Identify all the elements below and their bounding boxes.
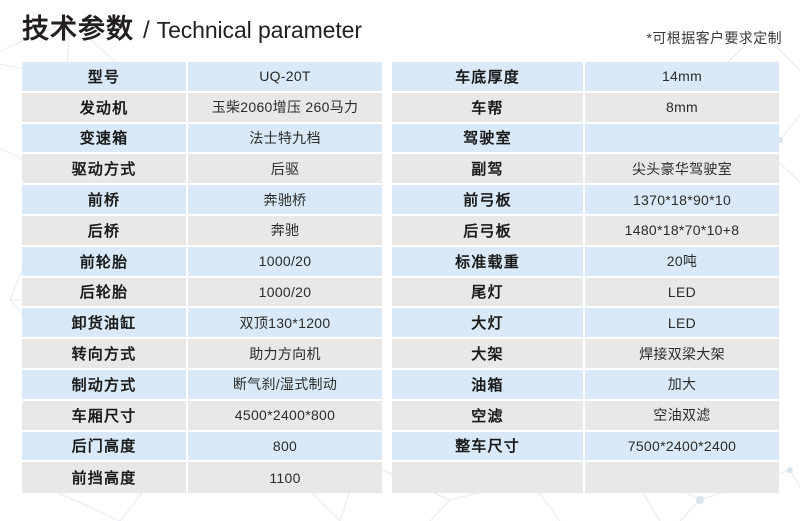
spec-label-cell: 大灯 (392, 308, 585, 339)
spec-label-cell: 前挡高度 (22, 462, 188, 493)
spec-label-cell: 发动机 (22, 93, 188, 124)
spec-label-cell: 车底厚度 (392, 62, 585, 93)
spec-row: 空滤空油双滤 (392, 401, 779, 432)
spec-value-cell: 加大 (585, 370, 779, 401)
page-title-separator: / (143, 19, 150, 43)
spec-value-cell: 1370*18*90*10 (585, 185, 779, 216)
spec-value-cell: 14mm (585, 62, 779, 93)
spec-value-cell: 7500*2400*2400 (585, 432, 779, 463)
spec-row: 驱动方式后驱 (22, 154, 382, 185)
spec-row: 尾灯LED (392, 278, 779, 309)
spec-row: 车厢尺寸4500*2400*800 (22, 401, 382, 432)
spec-value-cell (585, 462, 779, 493)
spec-label-cell: 后门高度 (22, 432, 188, 463)
spec-value-cell: 双顶130*1200 (188, 308, 382, 339)
spec-label-cell: 制动方式 (22, 370, 188, 401)
spec-label-cell (392, 462, 585, 493)
customization-note: *可根据客户要求定制 (647, 28, 782, 48)
spec-row: 油箱加大 (392, 370, 779, 401)
spec-label-cell: 后轮胎 (22, 278, 188, 309)
spec-label-cell: 后桥 (22, 216, 188, 247)
spec-row: 制动方式断气刹/湿式制动 (22, 370, 382, 401)
spec-label-cell: 后弓板 (392, 216, 585, 247)
spec-value-cell: 断气刹/湿式制动 (188, 370, 382, 401)
spec-row: 卸货油缸双顶130*1200 (22, 308, 382, 339)
spec-value-cell: 1100 (188, 462, 382, 493)
spec-value-cell: LED (585, 278, 779, 309)
spec-label-cell: 油箱 (392, 370, 585, 401)
spec-value-cell: 法士特九档 (188, 124, 382, 155)
spec-label-cell: 车帮 (392, 93, 585, 124)
page-header: 技术参数 / Technical parameter *可根据客户要求定制 (0, 0, 800, 58)
spec-label-cell: 转向方式 (22, 339, 188, 370)
spec-row: 转向方式助力方向机 (22, 339, 382, 370)
spec-value-cell: UQ-20T (188, 62, 382, 93)
spec-label-cell: 标准载重 (392, 247, 585, 278)
spec-value-cell: 800 (188, 432, 382, 463)
spec-row: 后轮胎1000/20 (22, 278, 382, 309)
spec-label-cell: 前轮胎 (22, 247, 188, 278)
spec-row: 标准载重20吨 (392, 247, 779, 278)
spec-value-cell: 空油双滤 (585, 401, 779, 432)
spec-label-cell: 变速箱 (22, 124, 188, 155)
spec-value-cell: LED (585, 308, 779, 339)
spec-row: 型号UQ-20T (22, 62, 382, 93)
spec-table-right-body: 车底厚度14mm车帮8mm驾驶室副驾尖头豪华驾驶室前弓板1370*18*90*1… (392, 62, 779, 493)
spec-row: 后桥奔驰 (22, 216, 382, 247)
spec-value-cell: 焊接双梁大架 (585, 339, 779, 370)
spec-label-cell: 空滤 (392, 401, 585, 432)
spec-row: 驾驶室 (392, 124, 779, 155)
page-title-cn: 技术参数 (22, 16, 134, 43)
spec-label-cell: 副驾 (392, 154, 585, 185)
spec-row: 后门高度800 (22, 432, 382, 463)
spec-value-cell: 20吨 (585, 247, 779, 278)
page-title: 技术参数 / Technical parameter (22, 16, 362, 43)
spec-row: 前挡高度1100 (22, 462, 382, 493)
spec-label-cell: 卸货油缸 (22, 308, 188, 339)
spec-value-cell: 助力方向机 (188, 339, 382, 370)
spec-table-left: 型号UQ-20T发动机玉柴2060增压 260马力变速箱法士特九档驱动方式后驱前… (22, 62, 382, 493)
spec-label-cell: 驾驶室 (392, 124, 585, 155)
spec-value-cell: 奔驰桥 (188, 185, 382, 216)
spec-label-cell: 车厢尺寸 (22, 401, 188, 432)
spec-row: 副驾尖头豪华驾驶室 (392, 154, 779, 185)
spec-value-cell: 奔驰 (188, 216, 382, 247)
spec-value-cell: 4500*2400*800 (188, 401, 382, 432)
spec-row: 前轮胎1000/20 (22, 247, 382, 278)
spec-row: 后弓板1480*18*70*10+8 (392, 216, 779, 247)
spec-table-right: 车底厚度14mm车帮8mm驾驶室副驾尖头豪华驾驶室前弓板1370*18*90*1… (392, 62, 779, 493)
spec-row: 大灯LED (392, 308, 779, 339)
spec-value-cell: 1000/20 (188, 278, 382, 309)
spec-value-cell: 后驱 (188, 154, 382, 185)
spec-value-cell: 1000/20 (188, 247, 382, 278)
spec-value-cell: 玉柴2060增压 260马力 (188, 93, 382, 124)
spec-row: 车帮8mm (392, 93, 779, 124)
spec-row: 变速箱法士特九档 (22, 124, 382, 155)
spec-label-cell: 型号 (22, 62, 188, 93)
spec-value-cell: 尖头豪华驾驶室 (585, 154, 779, 185)
spec-label-cell: 尾灯 (392, 278, 585, 309)
spec-row: 整车尺寸7500*2400*2400 (392, 432, 779, 463)
page-title-en: Technical parameter (157, 19, 362, 42)
spec-label-cell: 前桥 (22, 185, 188, 216)
spec-row: 发动机玉柴2060增压 260马力 (22, 93, 382, 124)
spec-label-cell: 整车尺寸 (392, 432, 585, 463)
spec-label-cell: 大架 (392, 339, 585, 370)
spec-row: 车底厚度14mm (392, 62, 779, 93)
spec-row (392, 462, 779, 493)
spec-sheet-page: 技术参数 / Technical parameter *可根据客户要求定制 型号… (0, 0, 800, 521)
spec-row: 前桥奔驰桥 (22, 185, 382, 216)
spec-label-cell: 前弓板 (392, 185, 585, 216)
spec-label-cell: 驱动方式 (22, 154, 188, 185)
spec-value-cell (585, 124, 779, 155)
spec-row: 大架焊接双梁大架 (392, 339, 779, 370)
spec-value-cell: 1480*18*70*10+8 (585, 216, 779, 247)
spec-row: 前弓板1370*18*90*10 (392, 185, 779, 216)
spec-value-cell: 8mm (585, 93, 779, 124)
spec-table-left-body: 型号UQ-20T发动机玉柴2060增压 260马力变速箱法士特九档驱动方式后驱前… (22, 62, 382, 493)
